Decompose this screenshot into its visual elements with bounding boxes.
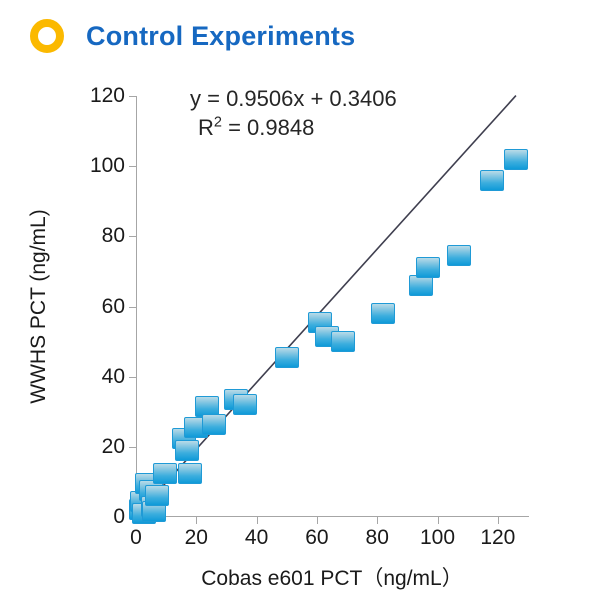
plot-area: 020406080100120 020406080100120 <box>136 96 528 517</box>
data-point <box>504 149 528 170</box>
y-tick-label: 120 <box>90 84 125 108</box>
y-tick <box>129 166 136 167</box>
data-point <box>409 275 433 296</box>
x-tick <box>196 517 197 524</box>
x-tick <box>377 517 378 524</box>
x-tick <box>438 517 439 524</box>
y-tick <box>129 307 136 308</box>
page-header: Control Experiments <box>0 0 600 72</box>
x-axis-line <box>136 516 529 517</box>
data-point <box>331 331 355 352</box>
data-point <box>153 463 177 484</box>
ring-icon <box>30 19 64 53</box>
x-tick <box>317 517 318 524</box>
data-point <box>175 440 199 461</box>
x-tick <box>498 517 499 524</box>
y-tick-label: 40 <box>102 365 125 389</box>
x-axis-title: Cobas e601 PCT（ng/mL） <box>136 562 528 592</box>
y-tick-label: 100 <box>90 154 125 178</box>
page-title: Control Experiments <box>86 21 355 52</box>
scatter-chart: WWHS PCT (ng/mL) Cobas e601 PCT（ng/mL） y… <box>0 72 600 600</box>
chart-page: Control Experiments WWHS PCT (ng/mL) Cob… <box>0 0 600 600</box>
x-tick <box>257 517 258 524</box>
data-point <box>275 347 299 368</box>
y-tick <box>129 377 136 378</box>
data-point <box>447 245 471 266</box>
y-tick-label: 20 <box>102 435 125 459</box>
y-tick <box>129 447 136 448</box>
data-point <box>416 257 440 278</box>
data-point <box>178 463 202 484</box>
y-tick <box>129 236 136 237</box>
data-point <box>233 394 257 415</box>
y-axis-line <box>136 96 137 517</box>
y-tick-label: 60 <box>102 295 125 319</box>
data-point <box>145 485 169 506</box>
data-point <box>202 414 226 435</box>
y-tick <box>129 96 136 97</box>
y-tick-label: 0 <box>113 505 125 529</box>
y-tick-label: 80 <box>102 224 125 248</box>
data-point <box>480 170 504 191</box>
data-point <box>371 303 395 324</box>
y-axis-title: WWHS PCT (ng/mL) <box>26 96 52 517</box>
